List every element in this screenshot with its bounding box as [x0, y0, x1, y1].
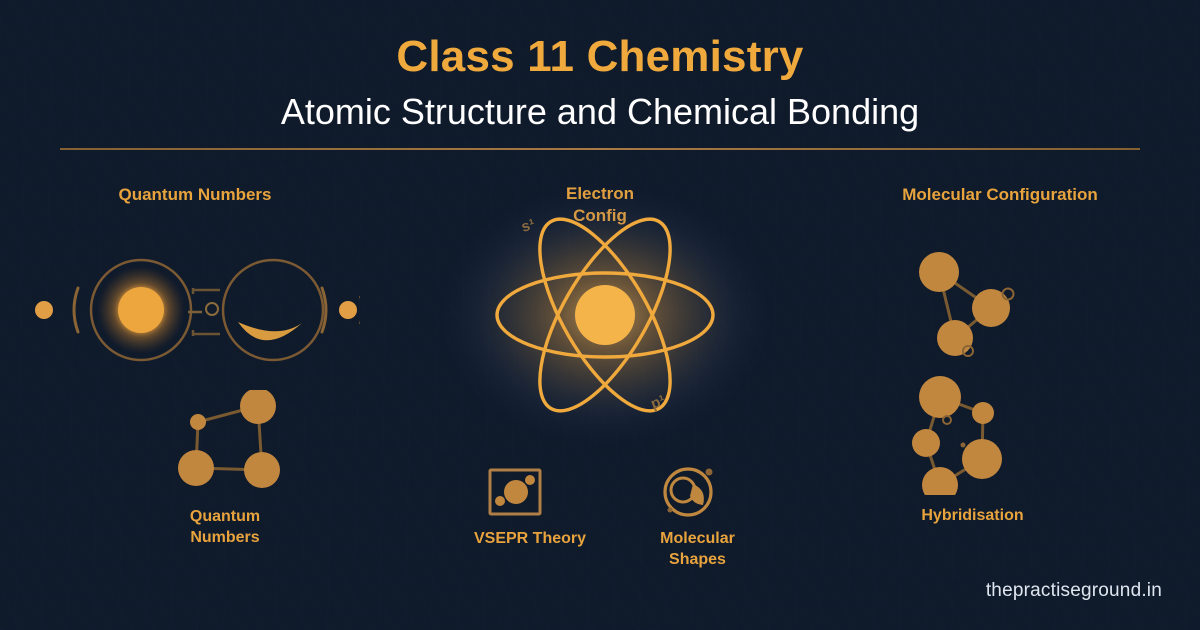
molecule-node — [912, 429, 940, 457]
quantum-numbers-molecule — [170, 390, 300, 495]
molecule-node — [244, 452, 280, 488]
molecule-node — [178, 450, 214, 486]
molecule-node — [919, 252, 959, 292]
footer-website[interactable]: thepractiseground.in — [986, 580, 1162, 602]
molecule-node — [972, 402, 994, 424]
vsepr-ligand — [495, 496, 505, 506]
sub-label-line2: Numbers — [190, 529, 259, 546]
molecular-shapes-icon[interactable] — [660, 462, 720, 520]
molecule-node — [922, 467, 958, 495]
sub-label-line2: Shapes — [669, 551, 726, 568]
molecule-node — [240, 390, 276, 424]
molecular-configuration-molecule — [915, 250, 1035, 360]
operator-symbol — [206, 303, 218, 315]
vsepr-ligand — [525, 475, 535, 485]
orbital-core — [118, 287, 164, 333]
orbital-bracket-diagram — [30, 230, 360, 390]
section-heading-quantum-numbers: Quantum Numbers — [55, 184, 335, 206]
sub-label-vsepr-theory: VSEPR Theory — [440, 528, 620, 549]
page-title: Class 11 Chemistry — [0, 0, 1200, 80]
molecule-node — [962, 439, 1002, 479]
molecule-lone-pair — [961, 443, 966, 448]
bracket-open-left — [74, 288, 78, 332]
sub-label-molecular-shapes: Molecular Shapes — [610, 528, 785, 570]
atom-nucleus — [575, 285, 635, 345]
sub-label-quantum-numbers: Quantum Numbers — [140, 506, 310, 548]
electron-dot-right — [339, 301, 357, 319]
shapes-lobe — [690, 484, 704, 505]
sub-label-line1: Quantum — [190, 508, 260, 525]
molecule-lone-pair — [943, 416, 951, 424]
vsepr-square-icon[interactable] — [487, 467, 543, 517]
vsepr-central-atom — [504, 480, 528, 504]
header: Class 11 Chemistry Atomic Structure and … — [0, 0, 1200, 132]
header-divider — [60, 148, 1140, 150]
orbital-ring-2 — [223, 260, 323, 360]
hybridisation-molecule — [910, 375, 1040, 495]
sub-label-line1: Molecular — [660, 530, 735, 547]
shapes-dot-bottom — [668, 508, 673, 513]
sub-label-hybridisation: Hybridisation — [875, 505, 1070, 526]
molecule-node — [937, 320, 973, 356]
section-heading-molecular-configuration: Molecular Configuration — [855, 184, 1145, 206]
molecule-node — [919, 376, 961, 418]
molecule-node — [972, 289, 1010, 327]
molecule-lone-pair — [1003, 289, 1014, 300]
molecule-node — [190, 414, 206, 430]
poster-canvas: Class 11 Chemistry Atomic Structure and … — [0, 0, 1200, 630]
orbital-lobe-crescent — [238, 322, 302, 340]
shapes-dot-top — [706, 469, 713, 476]
electron-config-atom: s¹ p¹ — [435, 175, 775, 445]
page-subtitle: Atomic Structure and Chemical Bonding — [0, 80, 1200, 132]
electron-dot-left — [35, 301, 53, 319]
